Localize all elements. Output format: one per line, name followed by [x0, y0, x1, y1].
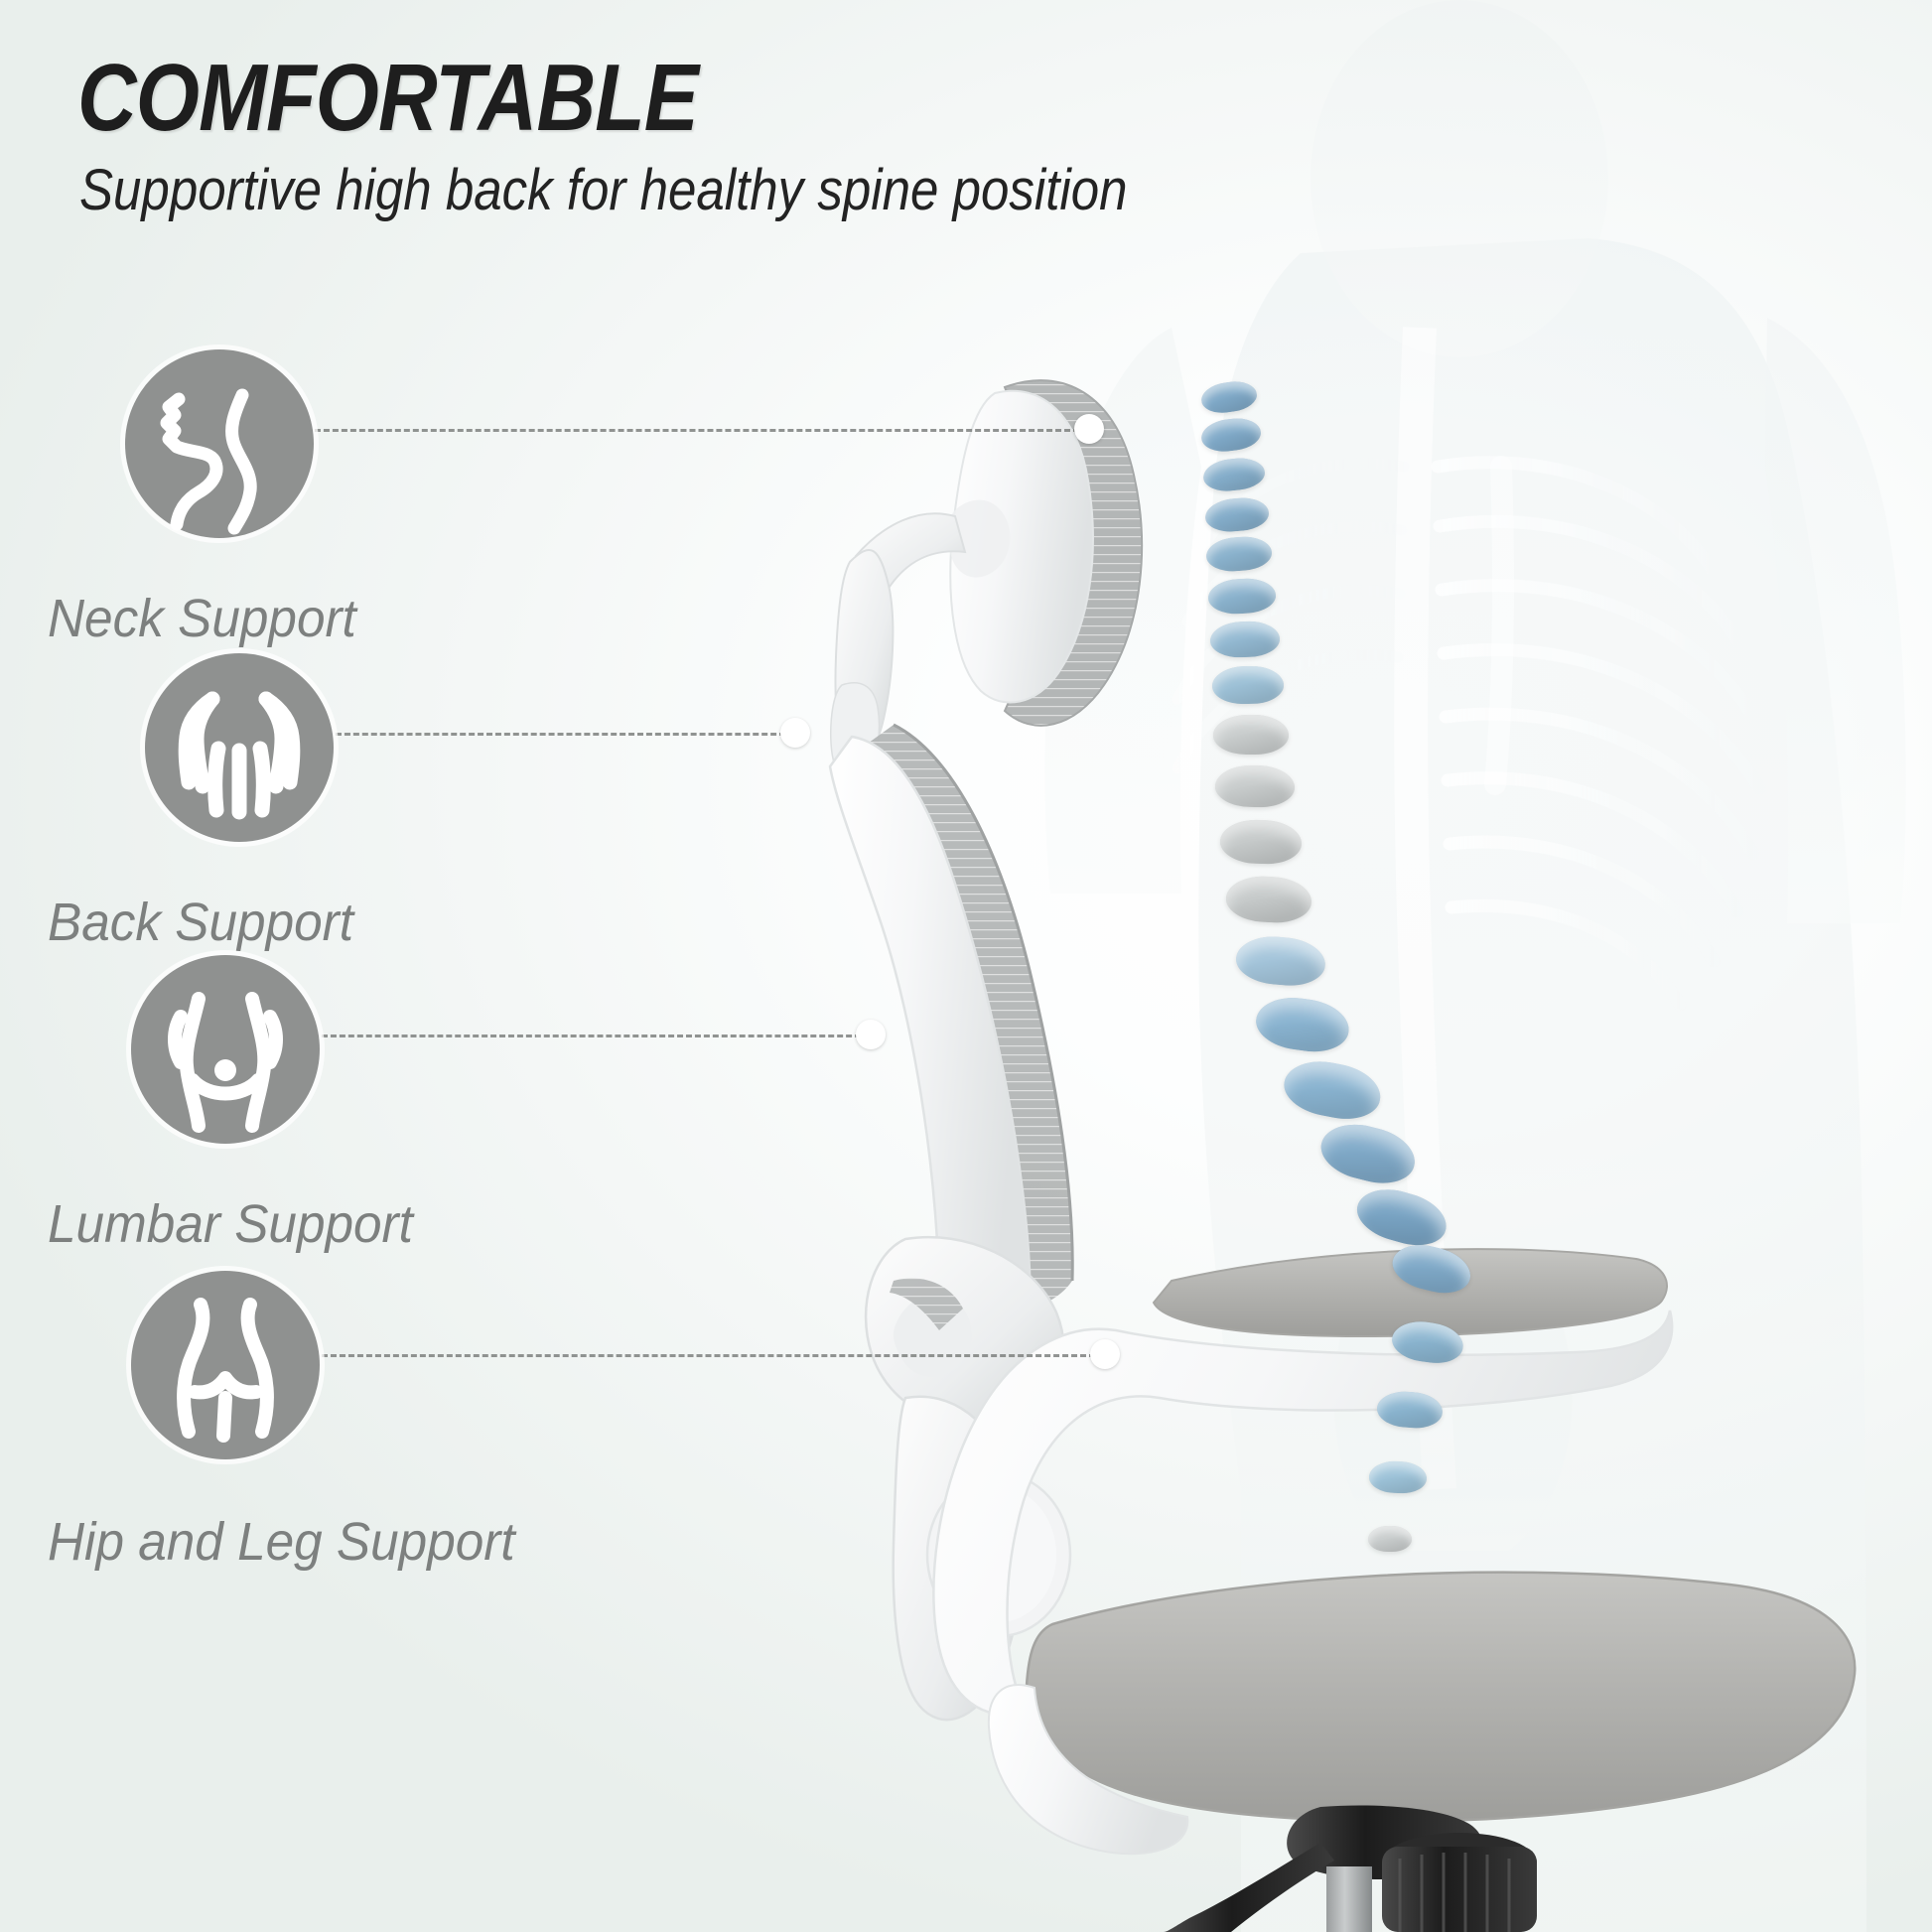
page-subtitle: Supportive high back for healthy spine p… — [79, 157, 1127, 223]
leader-line-neck-support — [270, 429, 1088, 432]
page-title: COMFORTABLE — [77, 44, 698, 153]
tilt-mechanism — [1164, 1806, 1537, 1932]
gas-lift-cylinder — [1326, 1866, 1372, 1932]
leader-line-lumbar-support — [322, 1035, 870, 1037]
feature-label-neck-support: Neck Support — [48, 588, 356, 649]
waist-torso-icon[interactable] — [131, 955, 320, 1144]
hip-buttocks-icon[interactable] — [131, 1271, 320, 1459]
height-adjust-lever — [1164, 1843, 1334, 1932]
neck-profile-icon[interactable] — [125, 349, 314, 538]
upper-back-muscles-icon[interactable] — [145, 653, 334, 842]
feature-label-lumbar-support: Lumbar Support — [48, 1193, 413, 1255]
leader-endpoint-neck-support — [1074, 414, 1104, 444]
tension-knob — [1382, 1833, 1537, 1932]
leader-line-hip-and-leg-support — [322, 1354, 1104, 1357]
feature-label-hip-and-leg-support: Hip and Leg Support — [48, 1511, 515, 1573]
leader-endpoint-back-support — [780, 718, 810, 748]
headrest — [947, 380, 1142, 726]
leader-endpoint-lumbar-support — [856, 1020, 886, 1049]
infographic-canvas: COMFORTABLE Supportive high back for hea… — [0, 0, 1932, 1932]
feature-label-back-support: Back Support — [48, 892, 353, 953]
leader-endpoint-hip-and-leg-support — [1090, 1339, 1120, 1369]
leader-line-back-support — [336, 733, 794, 736]
